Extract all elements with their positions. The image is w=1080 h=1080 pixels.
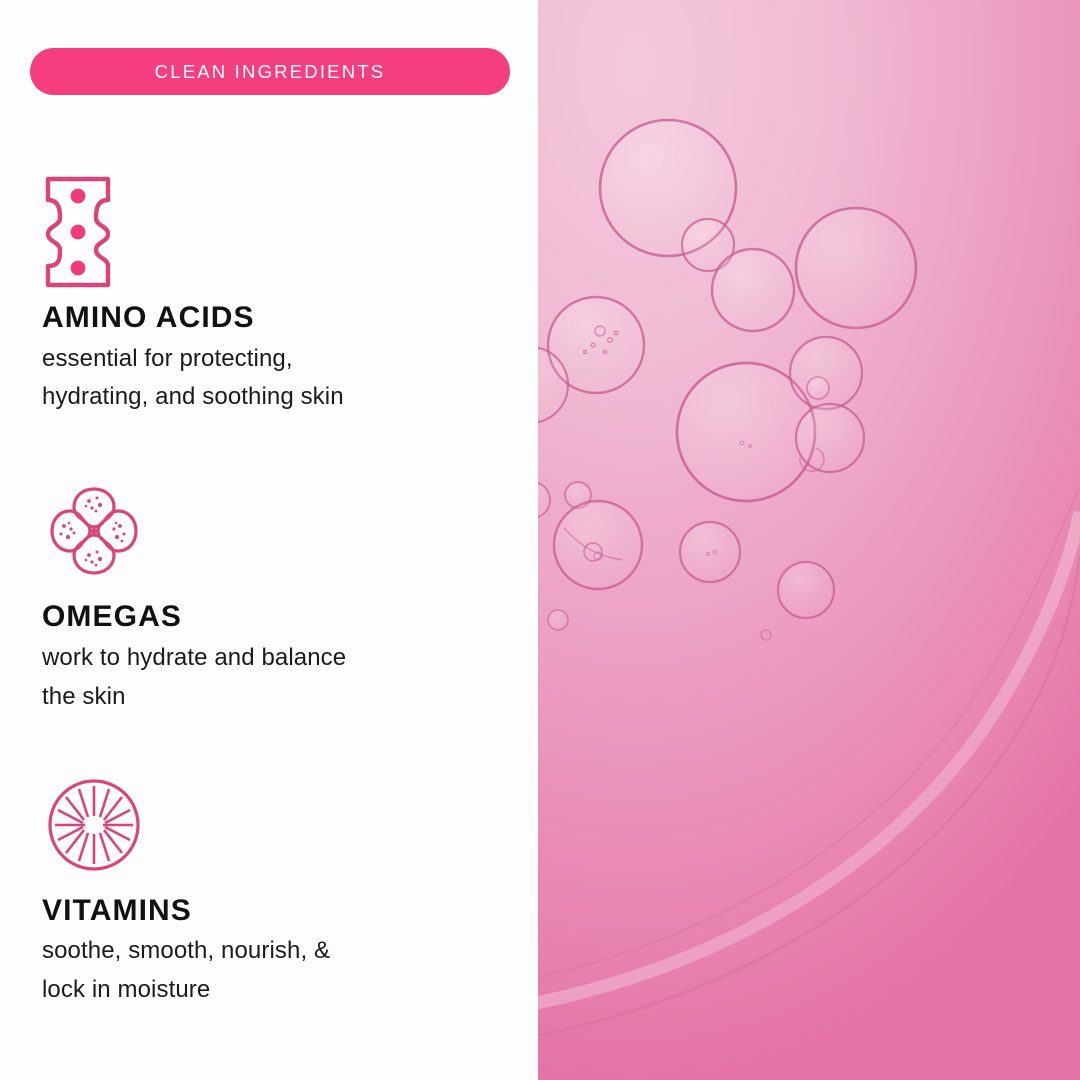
- clean-ingredients-badge: CLEAN INGREDIENTS: [30, 48, 510, 95]
- bubble-illustration: [538, 0, 1080, 1080]
- item-description-line: work to hydrate and balance: [42, 639, 512, 678]
- ingredient-list: AMINO ACIDS essential for protecting, hy…: [42, 176, 512, 1010]
- left-content-panel: CLEAN INGREDIENTS AMINO ACIDS essential …: [0, 0, 538, 1080]
- vitamin-sunburst-icon: [42, 769, 512, 881]
- item-description: work to hydrate and balance the skin: [42, 639, 512, 717]
- list-item: VITAMINS soothe, smooth, nourish, & lock…: [42, 769, 512, 1010]
- badge-label: CLEAN INGREDIENTS: [155, 61, 386, 83]
- ingredient-infographic: CLEAN INGREDIENTS AMINO ACIDS essential …: [0, 0, 1080, 1080]
- item-title: OMEGAS: [42, 601, 512, 633]
- item-description-line: the skin: [42, 678, 512, 717]
- item-description: essential for protecting, hydrating, and…: [42, 340, 512, 418]
- item-description-line: lock in moisture: [42, 971, 512, 1010]
- list-item: AMINO ACIDS essential for protecting, hy…: [42, 176, 512, 417]
- item-description-line: hydrating, and soothing skin: [42, 378, 512, 417]
- item-description: soothe, smooth, nourish, & lock in moist…: [42, 932, 512, 1010]
- serum-bubbles-photo: [538, 0, 1080, 1080]
- protein-strand-icon: [42, 176, 512, 288]
- item-title: AMINO ACIDS: [42, 302, 512, 334]
- item-description-line: soothe, smooth, nourish, &: [42, 932, 512, 971]
- item-title: VITAMINS: [42, 895, 512, 927]
- omega-clover-icon: [42, 475, 512, 587]
- list-item: OMEGAS work to hydrate and balance the s…: [42, 475, 512, 716]
- item-description-line: essential for protecting,: [42, 340, 512, 379]
